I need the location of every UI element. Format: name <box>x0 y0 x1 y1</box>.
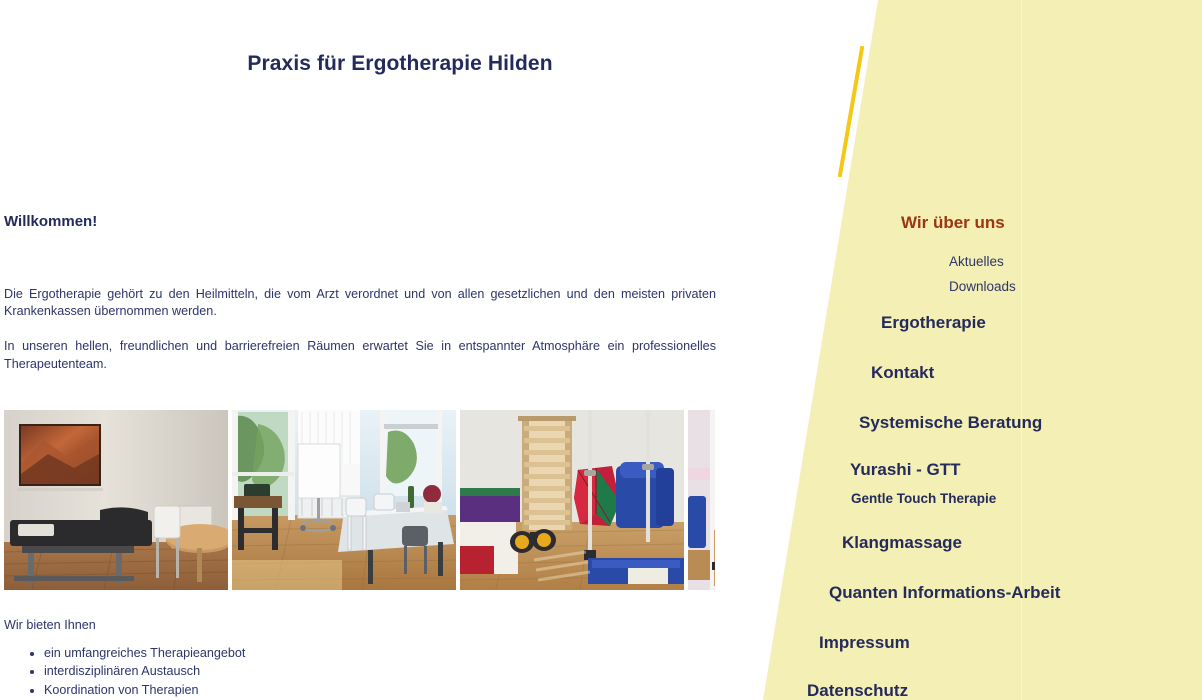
page-root: Praxis für Ergotherapie Hilden Willkomme… <box>0 0 1202 700</box>
sidebar-item-gentle-touch-therapie[interactable]: Gentle Touch Therapie <box>851 491 996 506</box>
main-content: Willkommen! Die Ergotherapie gehört zu d… <box>4 212 716 374</box>
welcome-heading: Willkommen! <box>4 212 716 232</box>
intro-paragraph-1: Die Ergotherapie gehört zu den Heilmitte… <box>4 286 716 322</box>
offers-intro: Wir bieten Ihnen <box>4 618 704 632</box>
sidebar-item-systemische-beratung[interactable]: Systemische Beratung <box>859 413 1042 433</box>
sidebar-item-ergotherapie[interactable]: Ergotherapie <box>881 313 986 333</box>
sidebar-item-kontakt[interactable]: Kontakt <box>871 363 934 383</box>
sidebar-item-wir-ueber-uns[interactable]: Wir über uns <box>901 213 1005 233</box>
offers-section: Wir bieten Ihnen ein umfangreiches Thera… <box>4 618 704 699</box>
treatment-room-photo[interactable] <box>4 410 228 590</box>
list-item: Koordination von Therapien <box>44 681 704 699</box>
sidebar-navigation: Wir über uns Aktuelles Downloads Ergothe… <box>763 0 1202 700</box>
page-title: Praxis für Ergotherapie Hilden <box>0 52 800 76</box>
sidebar-item-impressum[interactable]: Impressum <box>819 633 910 653</box>
sidebar-item-yurashi-gtt[interactable]: Yurashi - GTT <box>850 460 961 480</box>
list-item: interdisziplinären Austausch <box>44 662 704 680</box>
therapy-gym-photo[interactable] <box>460 410 684 590</box>
intro-paragraph-2: In unseren hellen, freundlichen und barr… <box>4 338 716 374</box>
meeting-room-photo[interactable] <box>232 410 456 590</box>
sidebar-item-datenschutz[interactable]: Datenschutz <box>807 681 908 700</box>
therapy-room-partial-photo[interactable] <box>688 410 715 590</box>
sidebar-item-downloads[interactable]: Downloads <box>949 279 1016 294</box>
list-item: ein umfangreiches Therapieangebot <box>44 644 704 662</box>
sidebar-item-quanten-informations-arbeit[interactable]: Quanten Informations-Arbeit <box>829 583 1060 603</box>
sidebar-item-klangmassage[interactable]: Klangmassage <box>842 533 962 553</box>
offers-list: ein umfangreiches Therapieangebot interd… <box>4 644 704 699</box>
photo-gallery <box>4 410 715 590</box>
sidebar-item-aktuelles[interactable]: Aktuelles <box>949 254 1004 269</box>
